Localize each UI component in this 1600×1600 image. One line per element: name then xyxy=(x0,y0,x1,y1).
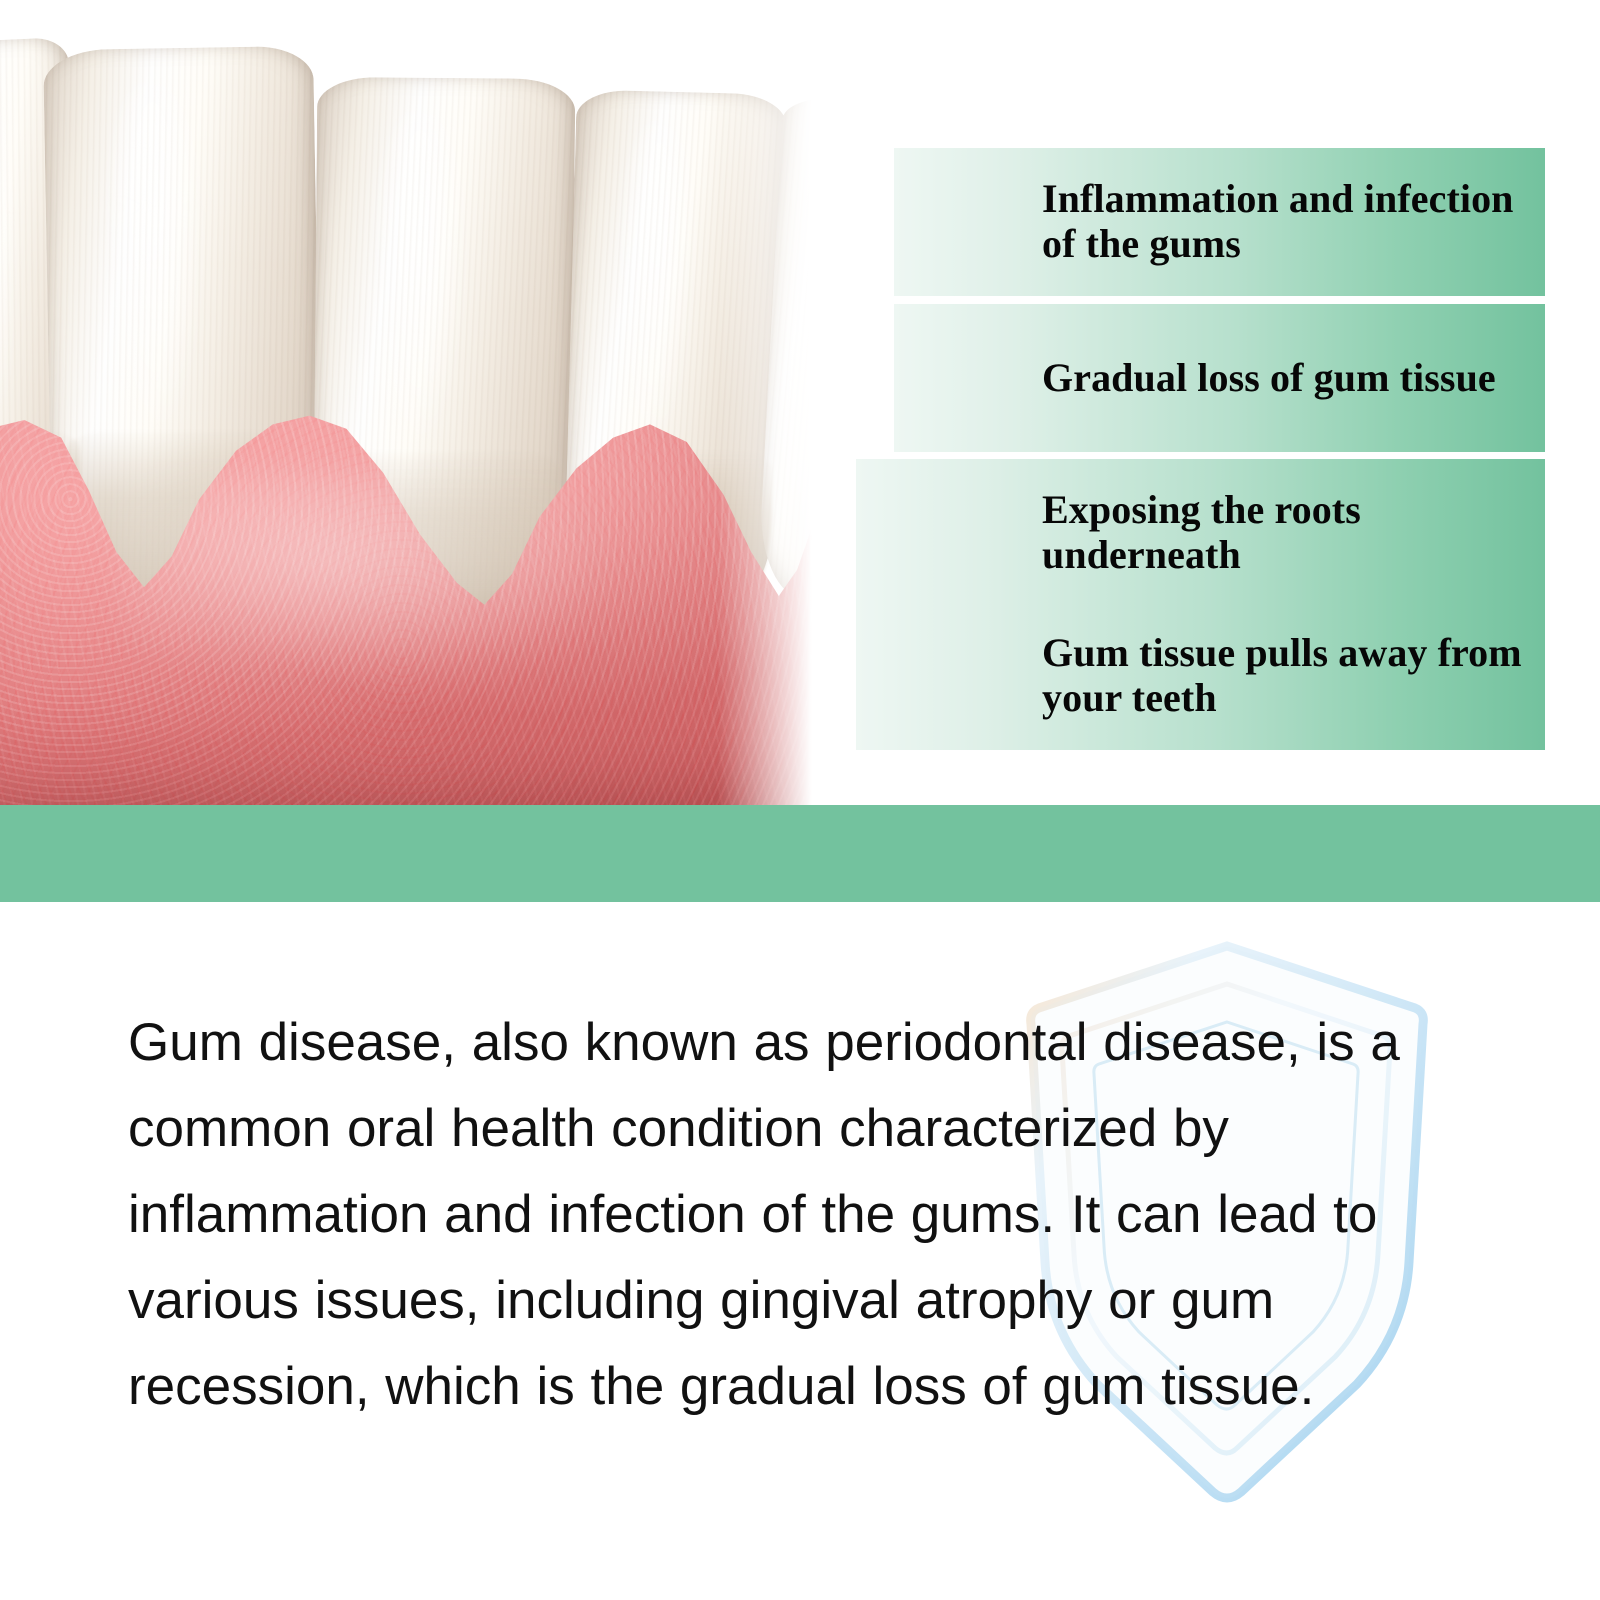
callout-inflammation[interactable]: Inflammation and infection of the gums xyxy=(894,148,1545,296)
description-paragraph: Gum disease, also known as periodontal d… xyxy=(128,1000,1473,1430)
accent-band xyxy=(0,805,1600,902)
callout-label: Inflammation and infection of the gums xyxy=(894,177,1545,267)
callout-list: Inflammation and infection of the gums G… xyxy=(0,0,1600,805)
callout-label: Gradual loss of gum tissue xyxy=(894,356,1514,401)
description-section: Gum disease, also known as periodontal d… xyxy=(0,902,1600,1600)
hero-section: Inflammation and infection of the gums G… xyxy=(0,0,1600,902)
callout-gum-pullback[interactable]: Gum tissue pulls away from your teeth xyxy=(856,602,1545,750)
callout-label: Exposing the roots underneath xyxy=(856,488,1545,578)
callout-exposed-roots[interactable]: Exposing the roots underneath xyxy=(856,459,1545,607)
infographic-page: Inflammation and infection of the gums G… xyxy=(0,0,1600,1600)
callout-gum-loss[interactable]: Gradual loss of gum tissue xyxy=(894,304,1545,452)
callout-label: Gum tissue pulls away from your teeth xyxy=(856,631,1545,721)
